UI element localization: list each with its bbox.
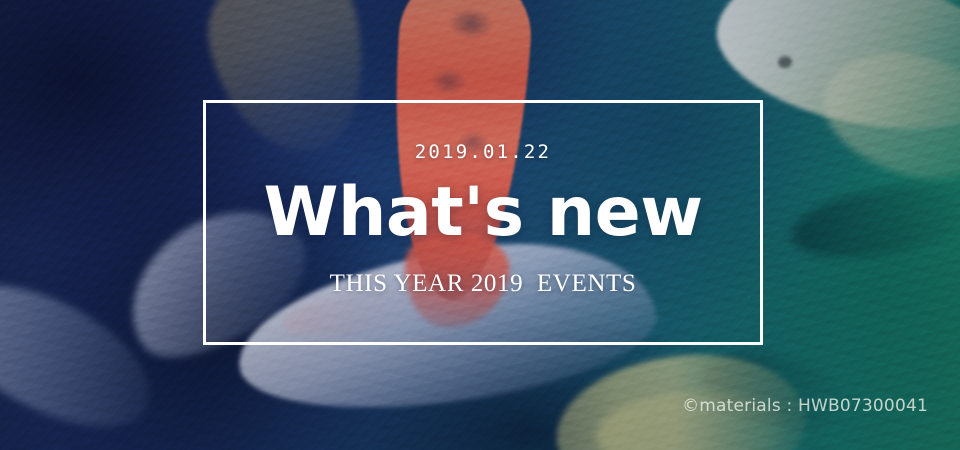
koi-fish-white-top-right-body	[809, 33, 960, 196]
whats-new-banner: 2019.01.22 What's new THIS YEAR 2019 EVE…	[0, 0, 960, 450]
banner-text-block: 2019.01.22 What's new THIS YEAR 2019 EVE…	[203, 100, 763, 345]
koi-fish-pale-bottom-left	[0, 255, 172, 450]
koi-fish-eye	[778, 56, 792, 68]
image-credit-watermark: ©materials : HWB07300041	[682, 396, 928, 416]
koi-fish-dark-lower-right	[694, 339, 856, 443]
koi-fish-dark-right	[786, 172, 960, 270]
banner-subheadline: THIS YEAR 2019 EVENTS	[330, 271, 637, 296]
banner-headline: What's new	[263, 178, 702, 249]
banner-date: 2019.01.22	[415, 143, 551, 162]
